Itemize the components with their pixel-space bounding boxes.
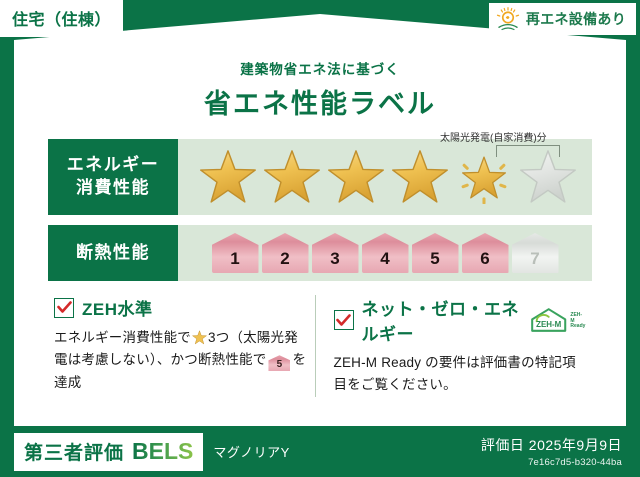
insulation-label: 断熱性能	[76, 242, 150, 265]
insulation-grade-2: 2	[262, 233, 309, 273]
label-footer: 第三者評価 BELS マグノリアY 評価日 2025年9月9日 7e16c7d5…	[0, 426, 640, 477]
zeh-body-part1: エネルギー消費性能で	[54, 330, 191, 345]
checkbox-zeh-standard[interactable]	[54, 298, 74, 318]
grade-value: 3	[330, 249, 339, 269]
net-zero-body: ZEH-M Ready の要件は評価書の特記項目をご覧ください。	[334, 352, 587, 397]
grade-value: 2	[280, 249, 289, 269]
zeh-m-logo: ZEH-M ZEH-M Ready	[529, 307, 586, 333]
solar-note-text: 太陽光発電(自家消費)分	[440, 129, 547, 144]
renewable-badge-label: 再エネ設備あり	[526, 9, 626, 29]
check-icon	[57, 301, 72, 314]
renewable-energy-badge: 再エネ設備あり	[489, 3, 636, 35]
energy-performance-label: 建築物省エネ法に基づく 省エネ性能ラベル エネルギー 消費性能 太陽光発電(自家…	[0, 0, 640, 477]
insulation-grade-scale: 1 2 3 4	[212, 233, 559, 273]
zeh-m-ready-line2: Ready	[570, 324, 586, 330]
solar-bracket	[496, 145, 560, 157]
star-filled-4	[389, 146, 451, 208]
label-card: 建築物省エネ法に基づく 省エネ性能ラベル エネルギー 消費性能 太陽光発電(自家…	[14, 14, 626, 426]
energy-label-line2: 消費性能	[76, 177, 150, 200]
insulation-grade-7: 7	[512, 233, 559, 273]
building-type-badge: 住宅（住棟）	[0, 0, 123, 37]
star-filled-3	[325, 146, 387, 208]
net-zero-title: ネット・ゼロ・エネルギー	[362, 295, 519, 345]
energy-stars-panel: 太陽光発電(自家消費)分	[178, 139, 592, 215]
label-subtitle: 建築物省エネ法に基づく	[32, 58, 608, 78]
insulation-grades-panel: 1 2 3 4	[178, 225, 592, 281]
grade-value: 6	[480, 249, 489, 269]
zeh-m-house-icon: ZEH-M	[529, 307, 568, 333]
zeh-m-ready-text: ZEH-M Ready	[570, 313, 586, 333]
grade-value: 4	[380, 249, 389, 269]
insulation-grade-1: 1	[212, 233, 259, 273]
zeh-standard-panel: ZEH水準 エネルギー消費性能で3つ（太陽光発電は考慮しない）、かつ断熱性能で5…	[46, 295, 315, 397]
inline-grade-value: 5	[277, 359, 283, 370]
bels-jp-label: 第三者評価	[24, 438, 124, 465]
insulation-grade-5: 5	[412, 233, 459, 273]
zeh-standard-body: エネルギー消費性能で3つ（太陽光発電は考慮しない）、かつ断熱性能で5を達成	[54, 327, 307, 394]
insulation-grade-3: 3	[312, 233, 359, 273]
insulation-performance-row: 断熱性能 1 2 3	[48, 225, 592, 281]
zeh-standard-title: ZEH水準	[82, 295, 153, 320]
energy-performance-row: エネルギー 消費性能 太陽光発電(自家消費)分	[48, 139, 592, 215]
zeh-standard-header: ZEH水準	[54, 295, 307, 320]
star-filled-2	[261, 146, 323, 208]
energy-label-line1: エネルギー	[67, 154, 160, 177]
building-name: マグノリアY	[213, 442, 289, 461]
star-filled-1	[197, 146, 259, 208]
grade-value: 1	[230, 249, 239, 269]
evaluation-date: 評価日 2025年9月9日	[481, 435, 622, 455]
grade-value: 7	[530, 249, 539, 269]
insulation-label-box: 断熱性能	[48, 225, 178, 281]
insulation-grade-4: 4	[362, 233, 409, 273]
energy-performance-label-box: エネルギー 消費性能	[48, 139, 178, 215]
bels-badge: 第三者評価 BELS	[14, 433, 203, 471]
net-zero-energy-panel: ネット・ゼロ・エネルギー ZEH-M ZEH-M Ready	[315, 295, 595, 397]
net-zero-header: ネット・ゼロ・エネルギー ZEH-M ZEH-M Ready	[334, 295, 587, 345]
svg-text:ZEH-M: ZEH-M	[536, 320, 562, 329]
certification-panels: ZEH水準 エネルギー消費性能で3つ（太陽光発電は考慮しない）、かつ断熱性能で5…	[46, 295, 594, 397]
sun-solar-icon	[495, 7, 521, 31]
label-title-block: 建築物省エネ法に基づく 省エネ性能ラベル	[32, 58, 608, 121]
checkbox-net-zero-energy[interactable]	[334, 310, 354, 330]
evaluation-info: 評価日 2025年9月9日 7e16c7d5-b320-44ba	[481, 435, 622, 468]
check-icon	[336, 314, 351, 327]
grade-value: 5	[430, 249, 439, 269]
inline-grade-badge: 5	[268, 355, 290, 371]
insulation-grade-6: 6	[462, 233, 509, 273]
bels-en-label: BELS	[132, 438, 193, 465]
label-title: 省エネ性能ラベル	[32, 82, 608, 121]
evaluation-id: 7e16c7d5-b320-44ba	[481, 457, 622, 468]
star-icon	[192, 330, 207, 345]
